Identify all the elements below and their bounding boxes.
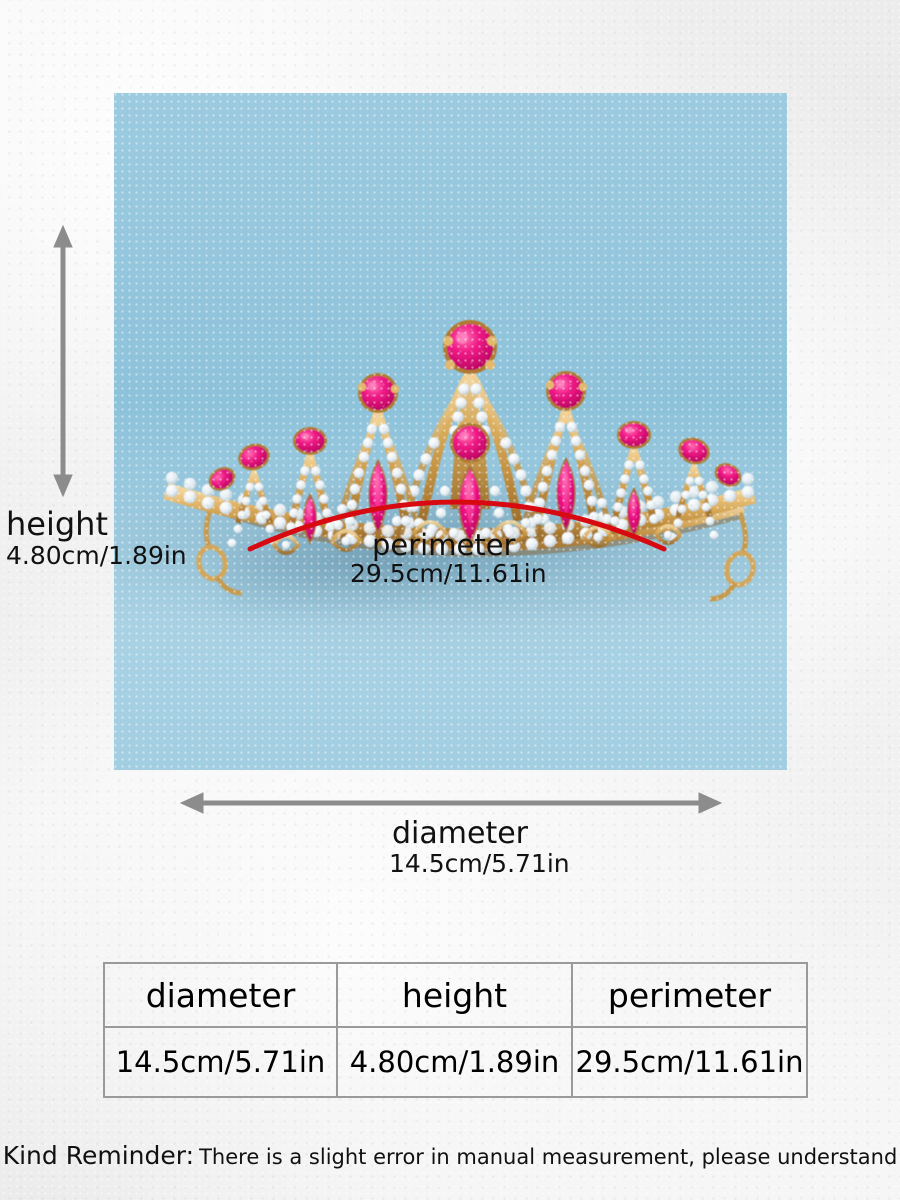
value-cell-height: 4.80cm/1.89in [337, 1027, 572, 1097]
value-cell-diameter: 14.5cm/5.71in [104, 1027, 337, 1097]
reminder-text: There is a slight error in manual measur… [199, 1145, 897, 1169]
header-cell-height: height [337, 963, 572, 1027]
height-label-value: 4.80cm/1.89in [6, 542, 187, 570]
header-cell-diameter: diameter [104, 963, 337, 1027]
height-arrow [54, 226, 72, 496]
height-label-title: height [6, 508, 187, 542]
header-cell-perimeter: perimeter [572, 963, 807, 1027]
perimeter-label-value: 29.5cm/11.61in [350, 560, 547, 588]
diameter-label-value: 14.5cm/5.71in [389, 850, 570, 878]
height-measurement-label: height 4.80cm/1.89in [6, 508, 187, 570]
kind-reminder: Kind Reminder: There is a slight error i… [0, 1141, 900, 1170]
table-value-row: 14.5cm/5.71in 4.80cm/1.89in 29.5cm/11.61… [104, 1027, 807, 1097]
perimeter-label-title: perimeter [372, 530, 547, 560]
specification-table: diameter height perimeter 14.5cm/5.71in … [103, 962, 808, 1098]
diameter-arrow [181, 793, 721, 813]
value-cell-perimeter: 29.5cm/11.61in [572, 1027, 807, 1097]
diameter-label-title: diameter [392, 818, 570, 850]
reminder-prefix: Kind Reminder: [3, 1141, 194, 1170]
tiara-illustration [114, 93, 787, 770]
diameter-measurement-label: diameter 14.5cm/5.71in [392, 818, 570, 878]
product-photo [114, 93, 787, 770]
perimeter-measurement-label: perimeter 29.5cm/11.61in [372, 530, 547, 588]
table-header-row: diameter height perimeter [104, 963, 807, 1027]
